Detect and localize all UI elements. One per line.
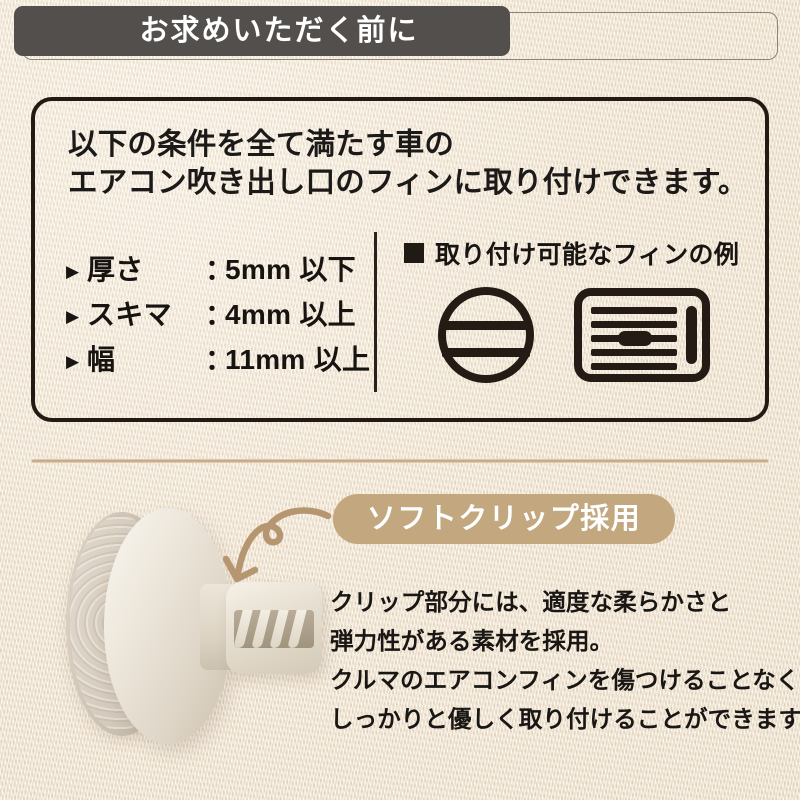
clip-tooth <box>269 610 288 648</box>
clip-tooth <box>234 610 253 648</box>
body-copy-line-4: しっかりと優しく取り付けることができます。 <box>330 700 790 739</box>
page-background: お求めいただく前に 以下の条件を全て満たす車の エアコン吹き出し口のフィンに取り… <box>0 0 800 800</box>
spec-value-gap: 4mm 以上 <box>225 293 356 333</box>
soft-clip-pill-text: ソフトクリップ採用 <box>367 505 642 534</box>
conditions-lead-line-1: 以下の条件を全て満たす車の <box>68 125 454 165</box>
round-vent-icon <box>434 285 538 385</box>
spec-value-thickness: 5mm 以下 <box>225 248 356 288</box>
spec-label-thickness: 厚さ <box>87 248 205 288</box>
header-banner-text: お求めいただく前に <box>105 17 418 46</box>
clip-tooth <box>287 610 306 648</box>
spec-list: ▶ 厚さ ： 5mm 以下 ▶ スキマ ： 4mm 以上 ▶ 幅 ： 11mm … <box>66 248 370 383</box>
curly-arrow-icon <box>215 500 335 600</box>
conditions-card: 以下の条件を全て満たす車の エアコン吹き出し口のフィンに取り付けできます。 ▶ … <box>31 97 769 422</box>
body-copy-line-3: クルマのエアコンフィンを傷つけることなく、 <box>330 661 790 700</box>
spec-colon: ： <box>205 248 225 288</box>
body-copy-line-1: クリップ部分には、適度な柔らかさと <box>330 583 790 622</box>
spec-row-thickness: ▶ 厚さ ： 5mm 以下 <box>66 248 370 293</box>
soft-clip-pill: ソフトクリップ採用 <box>333 494 675 544</box>
fin-examples-heading: 取り付け可能なフィンの例 <box>404 235 739 271</box>
fin-examples-heading-text: 取り付け可能なフィンの例 <box>435 235 739 271</box>
spec-label-width: 幅 <box>87 338 205 378</box>
spec-colon: ： <box>205 293 225 333</box>
clip-tooth <box>251 610 270 648</box>
card-vertical-divider <box>374 232 377 392</box>
square-bullet-icon <box>404 243 424 263</box>
spec-row-width: ▶ 幅 ： 11mm 以上 <box>66 338 370 383</box>
conditions-lead-line-2: エアコン吹き出し口のフィンに取り付けできます。 <box>68 163 748 203</box>
body-copy-line-2: 弾力性がある素材を採用。 <box>330 622 790 661</box>
spec-value-width: 11mm 以上 <box>225 338 370 378</box>
spec-row-gap: ▶ スキマ ： 4mm 以上 <box>66 293 370 338</box>
header-banner: お求めいただく前に <box>14 6 510 56</box>
triangle-bullet-icon: ▶ <box>66 353 87 370</box>
rect-vent-icon <box>574 288 710 382</box>
section-divider-rule <box>32 459 768 463</box>
triangle-bullet-icon: ▶ <box>66 263 87 280</box>
triangle-bullet-icon: ▶ <box>66 308 87 325</box>
spec-label-gap: スキマ <box>87 293 205 333</box>
product-clip-slot <box>234 610 314 648</box>
spec-colon: ： <box>205 338 225 378</box>
fin-examples-icons <box>410 283 750 387</box>
